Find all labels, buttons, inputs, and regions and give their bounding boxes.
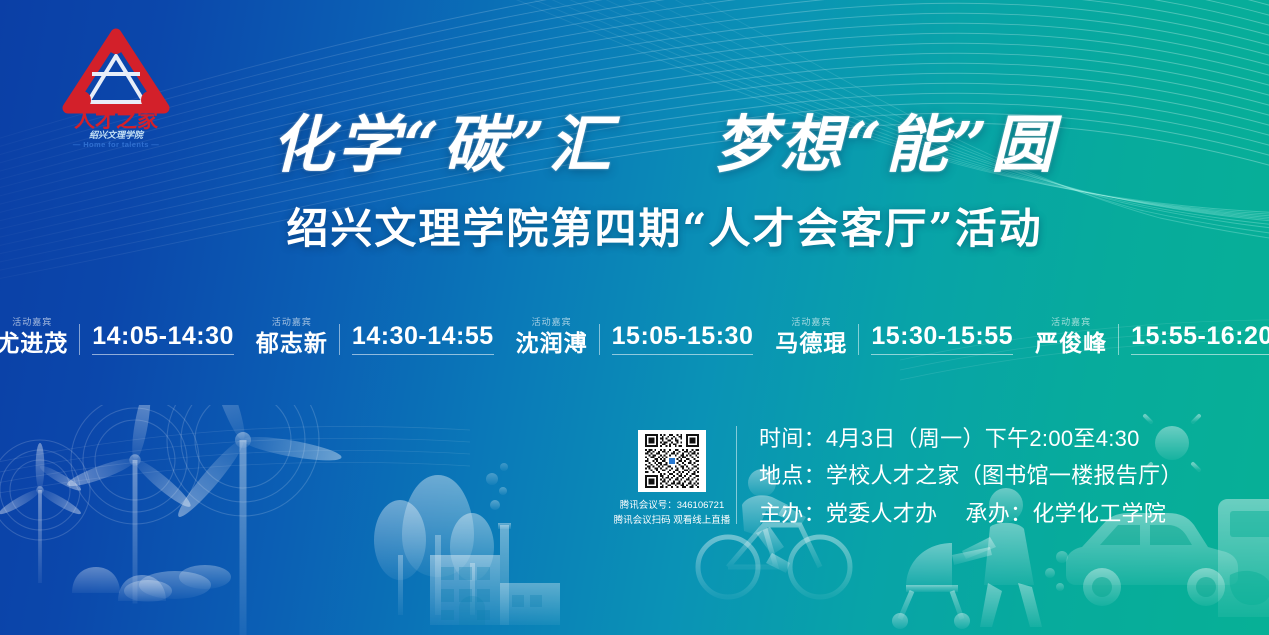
speaker-schedule-strip: 活动嘉宾 尤进茂 14:05-14:30 活动嘉宾 郁志新 14:30-14:5… — [0, 318, 1269, 355]
speaker-tag-label: 活动嘉宾 — [1051, 318, 1091, 327]
cloud-icon — [124, 565, 231, 602]
info-place-label: 地点： — [759, 463, 826, 488]
triangle-emblem-icon — [68, 34, 164, 109]
speaker-name-column: 活动嘉宾 尤进茂 — [0, 318, 79, 355]
poster-canvas: 人才之家 绍兴文理学院 — Home for talents — 化学“碳”汇 … — [0, 0, 1269, 635]
main-title-part-1: 化学“碳”汇 — [272, 108, 615, 181]
speaker-time: 15:30-15:55 — [858, 324, 1013, 355]
qr-code[interactable] — [638, 430, 706, 492]
speaker-name: 郁志新 — [256, 332, 328, 355]
qr-scan-hint: 腾讯会议扫码 观看线上直播 — [614, 514, 731, 529]
fuel-pump-leaf-icon — [1218, 499, 1269, 617]
info-time-value: 4月3日（周一）下午2:00至4:30 — [826, 426, 1140, 451]
info-time-label: 时间： — [759, 426, 826, 451]
info-time-line: 时间：4月3日（周一）下午2:00至4:30 — [759, 426, 1183, 451]
speaker-name-column: 活动嘉宾 郁志新 — [256, 318, 339, 355]
info-place-line: 地点：学校人才之家（图书馆一楼报告厅） — [759, 463, 1183, 488]
info-host-value: 党委人才办 — [826, 501, 938, 526]
info-host-line: 主办：党委人才办承办：化学化工学院 — [759, 501, 1183, 526]
info-place-value: 学校人才之家（图书馆一楼报告厅） — [826, 463, 1183, 488]
speaker-name-column: 活动嘉宾 沈润溥 — [516, 318, 599, 355]
speaker-entry[interactable]: 活动嘉宾 尤进茂 14:05-14:30 — [0, 318, 245, 355]
speaker-name: 马德琨 — [775, 332, 847, 355]
qr-column: 腾讯会议号：346106721 腾讯会议扫码 观看线上直播 — [612, 424, 732, 528]
speaker-name: 沈润溥 — [516, 332, 588, 355]
speaker-time: 14:30-14:55 — [339, 324, 494, 355]
speaker-tag-label: 活动嘉宾 — [12, 318, 52, 327]
qr-caption: 腾讯会议号：346106721 腾讯会议扫码 观看线上直播 — [614, 499, 731, 528]
event-info-block: 腾讯会议号：346106721 腾讯会议扫码 观看线上直播 时间：4月3日（周一… — [612, 424, 1183, 528]
main-title-part-2: 梦想“能”圆 — [714, 108, 1057, 181]
stroller-icon — [892, 543, 992, 629]
speaker-entry[interactable]: 活动嘉宾 郁志新 14:30-14:55 — [245, 318, 505, 355]
speaker-name-column: 活动嘉宾 马德琨 — [775, 318, 858, 355]
wind-turbine-icon — [0, 405, 343, 635]
sub-title: 绍兴文理学院第四期“人才会客厅”活动 — [0, 195, 1269, 256]
speaker-time: 14:05-14:30 — [79, 324, 234, 355]
info-organizer-label: 承办： — [965, 501, 1032, 526]
factory-icon — [72, 463, 560, 625]
speaker-name: 严俊峰 — [1035, 332, 1107, 355]
speaker-name-column: 活动嘉宾 严俊峰 — [1035, 318, 1118, 355]
speaker-entry[interactable]: 活动嘉宾 马德琨 15:30-15:55 — [764, 318, 1024, 355]
speaker-tag-label: 活动嘉宾 — [272, 318, 312, 327]
info-lines: 时间：4月3日（周一）下午2:00至4:30 地点：学校人才之家（图书馆一楼报告… — [737, 424, 1183, 526]
speaker-entry[interactable]: 活动嘉宾 沈润溥 15:05-15:30 — [505, 318, 765, 355]
tree-icon — [374, 475, 494, 615]
title-block: 化学“碳”汇 梦想“能”圆 绍兴文理学院第四期“人才会客厅”活动 — [0, 112, 1269, 256]
speaker-tag-label: 活动嘉宾 — [532, 318, 572, 327]
speaker-tag-label: 活动嘉宾 — [791, 318, 831, 327]
main-title: 化学“碳”汇 梦想“能”圆 — [0, 112, 1269, 177]
speaker-time: 15:05-15:30 — [599, 324, 754, 355]
speaker-entry[interactable]: 活动嘉宾 严俊峰 15:55-16:20 — [1024, 318, 1269, 355]
bicycle-icon — [698, 517, 850, 597]
speaker-name: 尤进茂 — [0, 332, 68, 355]
speaker-time: 15:55-16:20 — [1118, 324, 1269, 355]
info-host-label: 主办： — [759, 501, 826, 526]
info-organizer-value: 化学化工学院 — [1032, 501, 1166, 526]
qr-meeting-number: 腾讯会议号：346106721 — [614, 499, 731, 514]
